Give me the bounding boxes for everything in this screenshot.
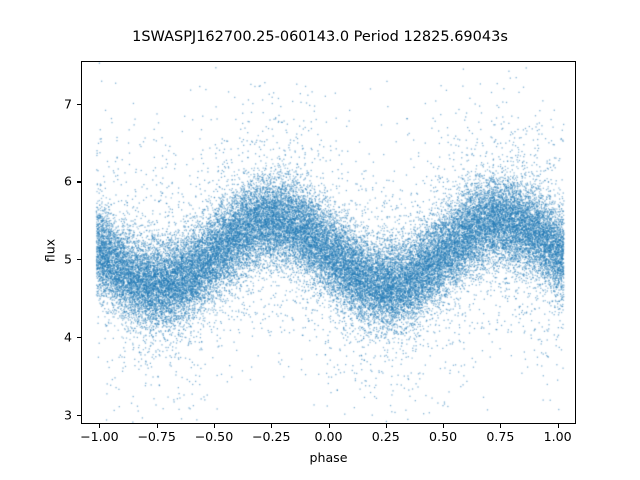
x-tick-label: −1.00 — [80, 429, 119, 444]
x-tick-label: 1.00 — [544, 429, 572, 444]
x-tick-mark — [99, 424, 100, 428]
x-tick-label: 0.50 — [429, 429, 457, 444]
x-tick-mark — [157, 424, 158, 428]
y-tick-mark — [77, 259, 81, 260]
x-tick-mark — [329, 424, 330, 428]
x-tick-mark — [386, 424, 387, 428]
plot-axes-area — [81, 61, 576, 424]
x-tick-mark — [500, 424, 501, 428]
x-tick-label: 0.00 — [314, 429, 342, 444]
y-tick-label: 4 — [32, 329, 72, 344]
y-axis-label: flux — [43, 191, 58, 311]
scatter-plot-canvas — [82, 62, 576, 424]
y-tick-label: 3 — [32, 407, 72, 422]
y-tick-label: 6 — [32, 174, 72, 189]
y-tick-mark — [77, 415, 81, 416]
x-tick-label: −0.25 — [252, 429, 291, 444]
x-tick-mark — [443, 424, 444, 428]
y-tick-label: 7 — [32, 96, 72, 111]
x-tick-label: −0.50 — [195, 429, 234, 444]
x-tick-label: 0.25 — [372, 429, 400, 444]
y-tick-mark — [77, 104, 81, 105]
y-tick-mark — [77, 337, 81, 338]
x-tick-mark — [558, 424, 559, 428]
page-title: 1SWASPJ162700.25-060143.0 Period 12825.6… — [0, 29, 640, 45]
x-tick-mark — [271, 424, 272, 428]
x-tick-label: −0.75 — [137, 429, 176, 444]
x-tick-mark — [214, 424, 215, 428]
x-tick-label: 0.75 — [486, 429, 514, 444]
y-tick-mark — [77, 181, 81, 182]
matplotlib-figure: 1SWASPJ162700.25-060143.0 Period 12825.6… — [0, 0, 640, 480]
x-axis-label: phase — [81, 450, 576, 465]
